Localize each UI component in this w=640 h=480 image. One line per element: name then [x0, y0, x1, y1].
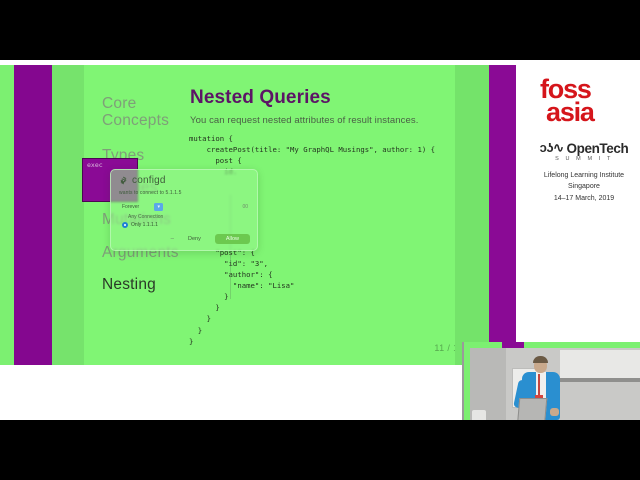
venue-line-1: Lifelong Learning Institute: [524, 170, 640, 181]
page-title: Nested Queries: [190, 87, 331, 109]
fossasia-logo: foss asia: [540, 78, 628, 124]
slide-right-green-band: [455, 65, 489, 365]
video-content-area: Core Concepts Types Queries Mutations Ar…: [0, 60, 640, 420]
page-subtitle: You can request nested attributes of res…: [190, 115, 418, 126]
opentech-name: OpenTech: [567, 141, 629, 156]
event-venue-info: Lifelong Learning Institute Singapore 14…: [524, 170, 640, 204]
gear-icon: [119, 176, 128, 185]
presenter-hair: [533, 356, 548, 363]
webcam-chair: [472, 410, 486, 420]
slide-right-purple-band: [489, 65, 516, 365]
slide-left-purple-band: [14, 65, 52, 365]
deny-button[interactable]: Deny: [183, 234, 206, 244]
presenter-webcam-overlay: [462, 342, 640, 420]
dialog-app-name: configd: [132, 175, 166, 186]
radio-option-only-host-label: Only 1.1.1.1: [131, 222, 158, 228]
dialog-message: wants to connect to 5.1.1.5: [119, 190, 181, 196]
sidebar-item-label: Nesting: [102, 276, 156, 293]
fossasia-logo-line2: asia: [540, 101, 628, 124]
duration-label: Forever: [122, 204, 139, 210]
venue-line-2: Singapore: [524, 181, 640, 192]
webcam-screen-shadow: [560, 378, 640, 382]
opentech-mark-icon: ↄʖ∿: [540, 140, 564, 156]
opentech-logo: ↄʖ∿ OpenTech: [534, 140, 634, 156]
connection-permission-dialog[interactable]: configd wants to connect to 5.1.1.5 Fore…: [110, 169, 258, 251]
presenter-lanyard: [538, 374, 540, 396]
code-block-result: "post": { "id": "3", "author": { "name":…: [189, 247, 294, 347]
webcam-laptop-screen: [517, 398, 548, 420]
presenter-hand: [550, 408, 559, 416]
webcam-room-wall-left: [464, 348, 506, 420]
webcam-left-green-edge: [464, 342, 470, 420]
presentation-slide: Core Concepts Types Queries Mutations Ar…: [0, 65, 516, 365]
venue-line-3: 14–17 March, 2019: [524, 193, 640, 204]
dialog-actions: – Deny Allow: [171, 234, 250, 244]
dialog-duration-row: Forever ▾ 00: [122, 203, 248, 211]
duration-dropdown[interactable]: ▾: [154, 203, 163, 211]
exec-window-label: exec: [87, 161, 103, 169]
opentech-summit-label: S U M M I T: [534, 156, 634, 162]
radio-option-only-host[interactable]: Only 1.1.1.1: [122, 222, 158, 228]
allow-button[interactable]: Allow: [215, 234, 250, 244]
minimize-icon[interactable]: –: [171, 236, 174, 242]
dialog-port-label: 00: [242, 204, 248, 210]
webcam-projection-screen: [560, 350, 640, 378]
slide-left-green-band: [52, 65, 84, 365]
radio-option-any-connection-label[interactable]: Any Connection: [128, 214, 163, 220]
dialog-header: configd: [119, 175, 166, 186]
radio-selected-icon: [122, 222, 128, 228]
chevron-down-icon: ▾: [157, 205, 160, 210]
screen-recording-frame: Core Concepts Types Queries Mutations Ar…: [0, 0, 640, 480]
